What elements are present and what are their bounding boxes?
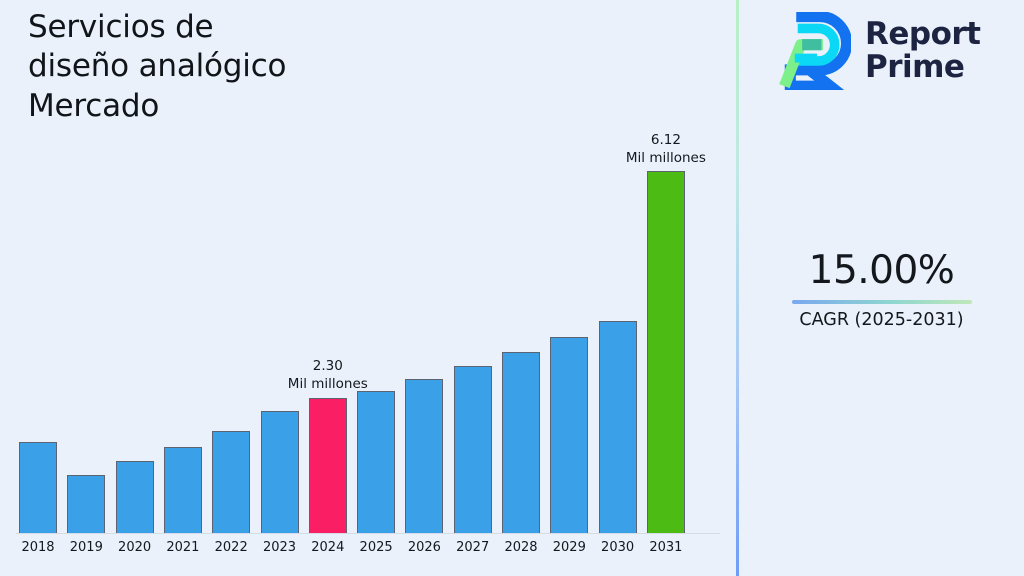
bar-2030 — [599, 321, 637, 534]
bar-chart-plot: 2.30 Mil millones6.12 Mil millones — [0, 130, 726, 534]
x-tick-2018: 2018 — [13, 540, 63, 555]
x-tick-2021: 2021 — [158, 540, 208, 555]
x-tick-2031: 2031 — [641, 540, 691, 555]
x-tick-2020: 2020 — [110, 540, 160, 555]
bar-2022 — [212, 431, 250, 534]
bar-2027 — [454, 366, 492, 534]
x-tick-2025: 2025 — [351, 540, 401, 555]
x-tick-2028: 2028 — [496, 540, 546, 555]
cagr-caption: CAGR (2025-2031) — [739, 310, 1024, 330]
brand-wordmark: Report Prime — [865, 18, 981, 85]
brand-logo: Report Prime — [777, 12, 981, 90]
bar-2031 — [647, 171, 685, 534]
x-tick-2023: 2023 — [255, 540, 305, 555]
x-tick-2029: 2029 — [544, 540, 594, 555]
bar-2029 — [550, 337, 588, 534]
x-tick-2024: 2024 — [303, 540, 353, 555]
bar-2018 — [19, 442, 57, 534]
bar-value-label-2024: 2.30 Mil millones — [268, 358, 388, 394]
bar-2023 — [261, 411, 299, 534]
chart-infographic: Servicios de diseño analógico Mercado 2.… — [0, 0, 1024, 576]
bar-2025 — [357, 391, 395, 534]
page-title: Servicios de diseño analógico Mercado — [28, 8, 448, 126]
chart-baseline — [16, 533, 720, 534]
bar-2024 — [309, 398, 347, 534]
chart-panel: Servicios de diseño analógico Mercado 2.… — [0, 0, 726, 576]
cagr-block: 15.00% CAGR (2025-2031) — [739, 250, 1024, 330]
x-tick-2019: 2019 — [61, 540, 111, 555]
bar-2020 — [116, 461, 154, 534]
bar-2026 — [405, 379, 443, 534]
summary-panel: Report Prime 15.00% CAGR (2025-2031) — [739, 0, 1024, 576]
cagr-value: 15.00% — [739, 250, 1024, 293]
bar-2021 — [164, 447, 202, 534]
cagr-divider-rule — [792, 300, 972, 304]
x-tick-2026: 2026 — [399, 540, 449, 555]
x-tick-2022: 2022 — [206, 540, 256, 555]
bar-2028 — [502, 352, 540, 534]
x-tick-2030: 2030 — [593, 540, 643, 555]
bar-value-label-2031: 6.12 Mil millones — [606, 132, 726, 168]
report-prime-r-logo-icon — [777, 12, 851, 90]
bar-2019 — [67, 475, 105, 534]
x-tick-2027: 2027 — [448, 540, 498, 555]
